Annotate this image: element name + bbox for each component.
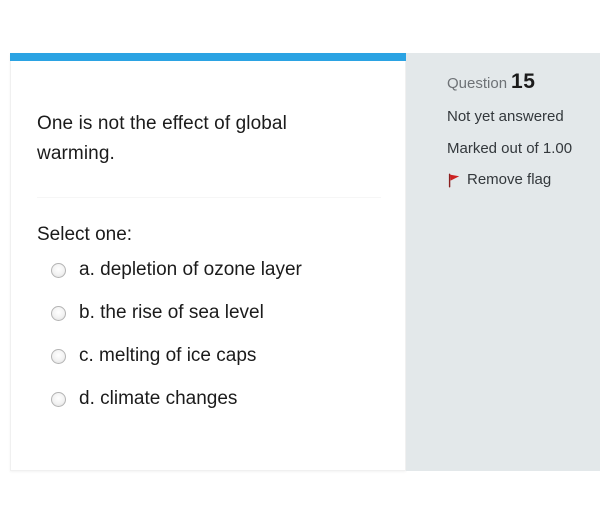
question-number: 15 [507, 70, 535, 93]
accent-bar [10, 53, 406, 61]
option-label-c[interactable]: c. melting of ice caps [66, 344, 256, 368]
option-c[interactable]: c. melting of ice caps [51, 344, 387, 387]
answer-options: a. depletion of ozone layer b. the rise … [37, 246, 387, 430]
question-marks: Marked out of 1.00 [447, 127, 600, 159]
option-label-a[interactable]: a. depletion of ozone layer [66, 258, 302, 282]
question-text: One is not the effect of global warming. [37, 61, 337, 169]
question-number-row: Question15 [447, 69, 600, 97]
question-state: Not yet answered [447, 97, 600, 127]
radio-button-c[interactable] [51, 349, 66, 364]
radio-button-b[interactable] [51, 306, 66, 321]
option-d[interactable]: d. climate changes [51, 387, 387, 430]
flag-icon [447, 173, 461, 188]
remove-flag-label[interactable]: Remove flag [467, 171, 551, 189]
option-a[interactable]: a. depletion of ozone layer [51, 258, 387, 301]
question-block: One is not the effect of global warming.… [10, 53, 600, 471]
option-b[interactable]: b. the rise of sea level [51, 301, 387, 344]
option-label-b[interactable]: b. the rise of sea level [66, 301, 264, 325]
radio-button-a[interactable] [51, 263, 66, 278]
radio-button-d[interactable] [51, 392, 66, 407]
question-word: Question [447, 75, 507, 92]
question-card: One is not the effect of global warming.… [10, 53, 406, 471]
question-info-panel: Question15 Not yet answered Marked out o… [406, 53, 600, 471]
question-card-body: One is not the effect of global warming.… [11, 53, 405, 430]
answer-prompt: Select one: [37, 198, 387, 246]
option-label-d[interactable]: d. climate changes [66, 387, 237, 411]
remove-flag-button[interactable]: Remove flag [447, 159, 600, 189]
